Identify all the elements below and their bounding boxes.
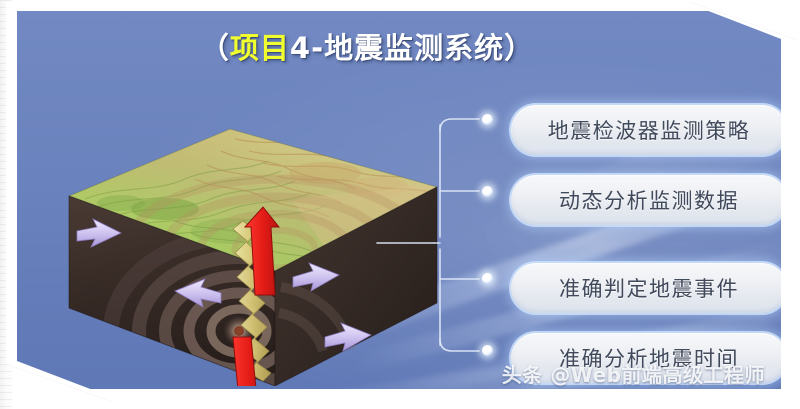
topic-pill-3-label: 准确判定地震事件 [559, 273, 739, 303]
page-title: （项目4-地震监测系统） [17, 25, 717, 67]
connector-node-dot-4 [482, 345, 493, 356]
title-paren-close: ） [504, 31, 534, 65]
slide-content-panel: （项目4-地震监测系统） [17, 11, 781, 389]
topic-pill-3[interactable]: 准确判定地震事件 [511, 263, 781, 313]
title-main-text: 4-地震监测系统 [290, 31, 504, 65]
topic-pill-2-label: 动态分析监测数据 [559, 185, 739, 215]
connector-node-dot-3 [482, 273, 493, 284]
connector-node-dot-2 [482, 186, 493, 197]
earthquake-block-diagram [25, 81, 445, 386]
slide-root: （项目4-地震监测系统） [0, 0, 800, 409]
title-paren-open: （ [200, 31, 230, 65]
title-accent-text: 项目 [230, 31, 290, 65]
topic-pill-2[interactable]: 动态分析监测数据 [511, 175, 781, 225]
topic-pill-1-label: 地震检波器监测策略 [548, 115, 751, 145]
topic-pill-1[interactable]: 地震检波器监测策略 [511, 105, 781, 155]
connector-node-dot-1 [482, 114, 493, 125]
watermark: 头条 @Web前端高级工程师 [502, 359, 765, 388]
